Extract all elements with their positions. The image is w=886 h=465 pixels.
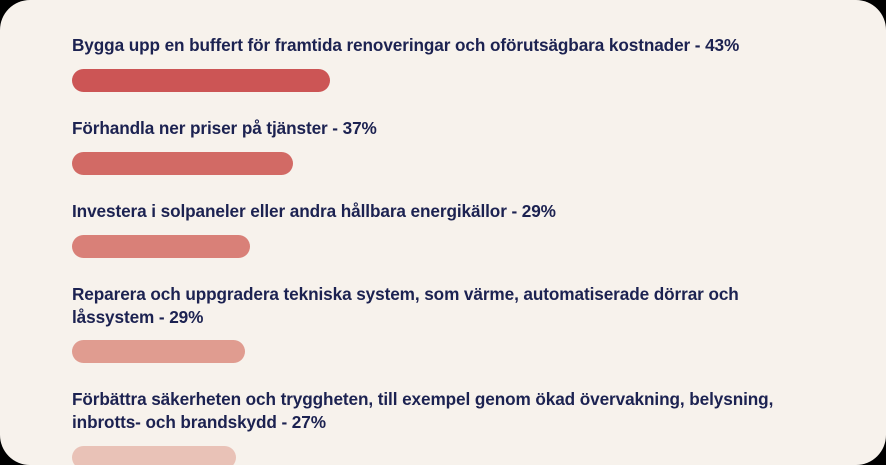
bar-label: Reparera och uppgradera tekniska system,… <box>72 283 826 329</box>
bar-track <box>72 152 826 175</box>
bar-fill <box>72 152 293 175</box>
bar-track <box>72 69 826 92</box>
row-spacer <box>72 363 826 388</box>
bar-fill <box>72 69 330 92</box>
bar-label: Förhandla ner priser på tjänster - 37% <box>72 117 826 140</box>
row-spacer <box>72 92 826 117</box>
bar-fill <box>72 235 250 258</box>
bar-fill <box>72 446 236 465</box>
bar-label: Förbättra säkerheten och tryggheten, til… <box>72 388 826 434</box>
chart-row: Förhandla ner priser på tjänster - 37% <box>72 117 826 175</box>
bar-chart-card: Bygga upp en buffert för framtida renove… <box>0 0 886 465</box>
bar-track <box>72 446 826 465</box>
bar-label: Bygga upp en buffert för framtida renove… <box>72 34 826 57</box>
chart-row: Förbättra säkerheten och tryggheten, til… <box>72 388 826 465</box>
row-spacer <box>72 258 826 283</box>
bar-track <box>72 235 826 258</box>
chart-row: Investera i solpaneler eller andra hållb… <box>72 200 826 258</box>
bar-track <box>72 340 826 363</box>
bar-label: Investera i solpaneler eller andra hållb… <box>72 200 826 223</box>
chart-row: Bygga upp en buffert för framtida renove… <box>72 34 826 92</box>
bar-fill <box>72 340 245 363</box>
chart-row: Reparera och uppgradera tekniska system,… <box>72 283 826 364</box>
horizontal-bar-chart: Bygga upp en buffert för framtida renove… <box>72 34 826 465</box>
row-spacer <box>72 175 826 200</box>
